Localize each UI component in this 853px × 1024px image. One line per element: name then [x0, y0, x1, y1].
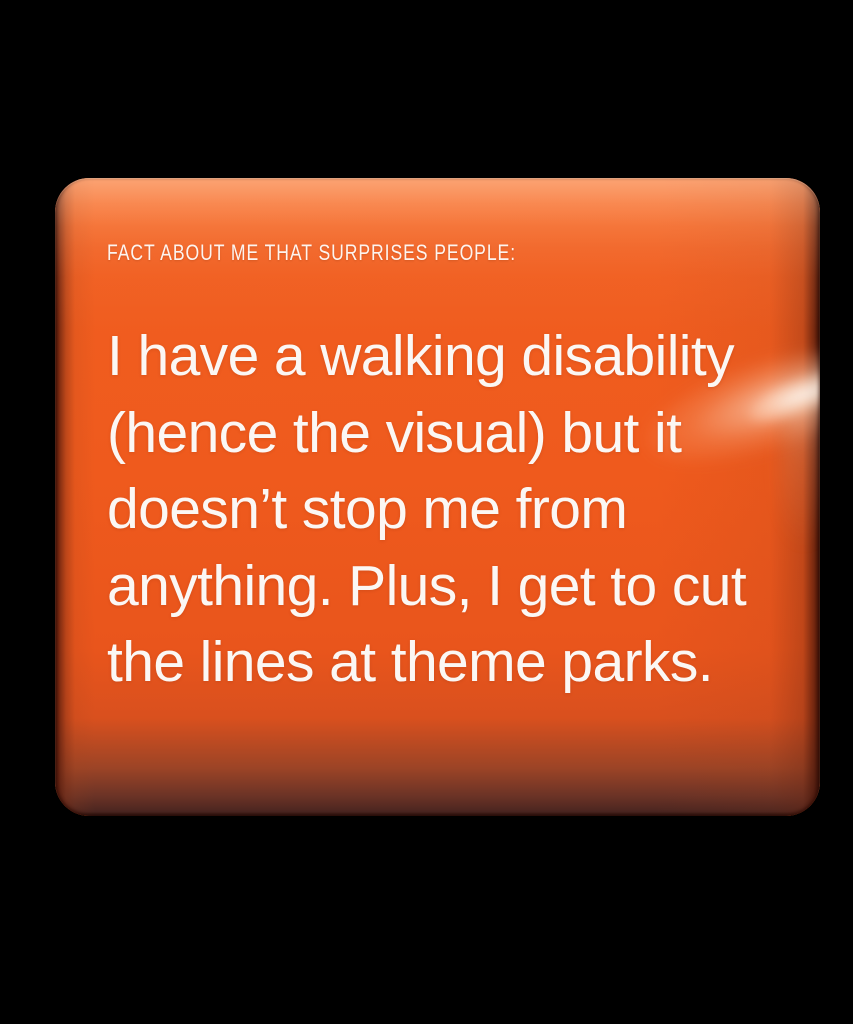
eyebrow-label: FACT ABOUT ME THAT SURPRISES PEOPLE:: [107, 240, 516, 266]
fact-card[interactable]: FACT ABOUT ME THAT SURPRISES PEOPLE: I h…: [55, 178, 820, 816]
body-copy: I have a walking disability (hence the v…: [107, 318, 767, 701]
screen-canvas: FACT ABOUT ME THAT SURPRISES PEOPLE: I h…: [0, 0, 853, 1024]
card-text-block: FACT ABOUT ME THAT SURPRISES PEOPLE: I h…: [107, 178, 797, 816]
